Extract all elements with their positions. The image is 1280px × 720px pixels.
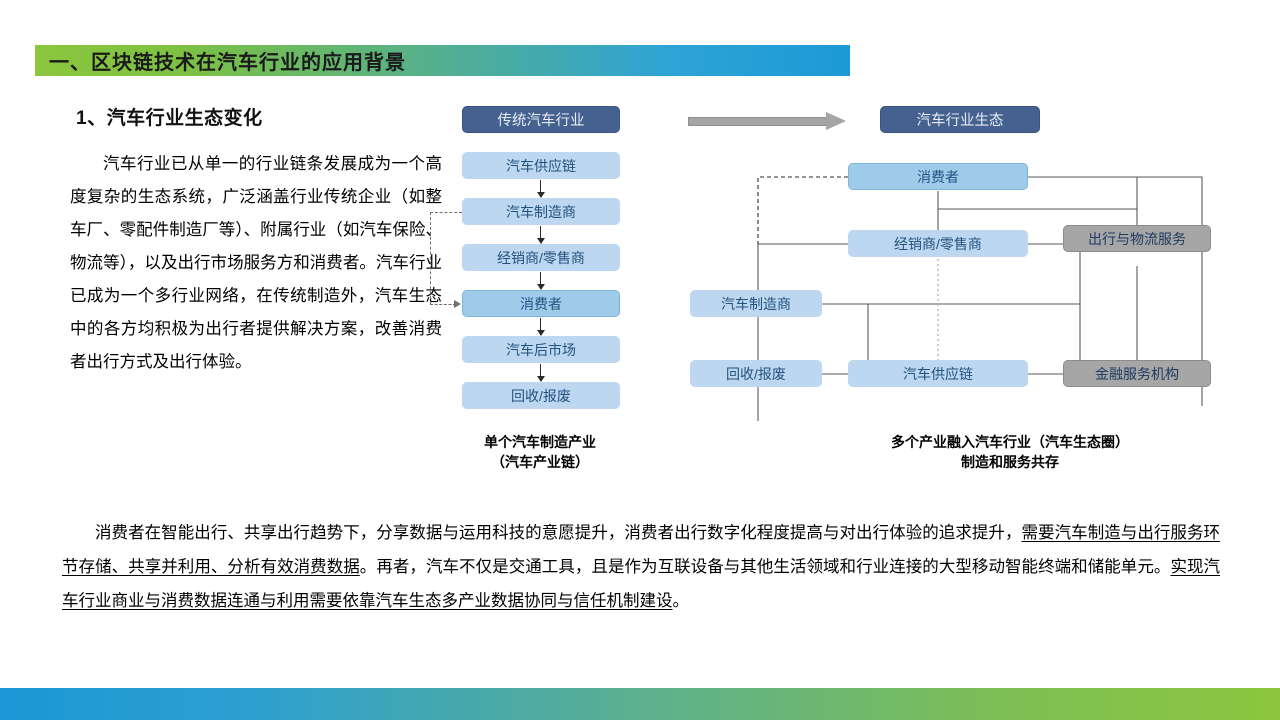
slide-footer-bar (0, 688, 1280, 720)
eco-node-consumer: 消费者 (848, 163, 1028, 190)
traditional-auto-flowchart: 传统汽车行业 汽车供应链 汽车制造商 经销商/零售商 消费者 汽车后市场 回收/… (452, 106, 632, 421)
page-title: 一、区块链技术在汽车行业的应用背景 (35, 46, 406, 75)
flow-node-dealer: 经销商/零售商 (462, 244, 620, 271)
flow-arrow-down-icon (540, 226, 541, 243)
flow-arrow-down-icon (540, 364, 541, 381)
feedback-arrowhead-icon (454, 300, 461, 308)
feedback-dashed-top (430, 212, 462, 213)
left-diagram-caption: 单个汽车制造产业 （汽车产业链） (440, 432, 640, 472)
caption-line-1: 多个产业融入汽车行业（汽车生态圈） (810, 432, 1210, 452)
flow-node-supply-chain: 汽车供应链 (462, 152, 620, 179)
flow-arrow-down-icon (540, 272, 541, 289)
section-sub-heading: 1、汽车行业生态变化 (76, 103, 263, 130)
flow-node-recycle: 回收/报废 (462, 382, 620, 409)
flow-arrow-down-icon (540, 180, 541, 197)
feedback-dashed-left (430, 212, 431, 304)
caption-line-2: （汽车产业链） (440, 452, 640, 472)
flow-node-aftermarket: 汽车后市场 (462, 336, 620, 363)
eco-node-financial-services: 金融服务机构 (1063, 360, 1211, 387)
eco-header-node: 汽车行业生态 (880, 106, 1040, 133)
auto-ecosystem-diagram: 汽车行业生态 消费者 经销商/零售商 出行与物流服务 汽车制造商 回收/报废 汽… (690, 106, 1230, 421)
caption-line-2: 制造和服务共存 (810, 452, 1210, 472)
para-seg-3: 。再者，汽车不仅是交通工具，且是作为互联设备与其他生活领域和行业连接的大型移动智… (360, 558, 1171, 576)
flow-header-node: 传统汽车行业 (462, 106, 620, 133)
eco-node-recycle: 回收/报废 (690, 360, 822, 387)
eco-node-supply-chain: 汽车供应链 (848, 360, 1028, 387)
para-seg-5: 。 (673, 592, 690, 610)
feedback-dashed-bottom (430, 304, 456, 305)
para-seg-1: 消费者在智能出行、共享出行趋势下，分享数据与运用科技的意愿提升，消费者出行数字化… (95, 524, 1022, 542)
bottom-paragraph: 消费者在智能出行、共享出行趋势下，分享数据与运用科技的意愿提升，消费者出行数字化… (62, 516, 1220, 618)
eco-node-manufacturer: 汽车制造商 (690, 290, 822, 317)
flow-arrow-down-icon (540, 318, 541, 335)
eco-node-mobility-logistics: 出行与物流服务 (1063, 225, 1211, 252)
flow-node-consumer: 消费者 (462, 290, 620, 317)
eco-node-dealer: 经销商/零售商 (848, 230, 1028, 257)
intro-paragraph: 汽车行业已从单一的行业链条发展成为一个高度复杂的生态系统，广泛涵盖行业传统企业（… (70, 148, 442, 379)
caption-line-1: 单个汽车制造产业 (440, 432, 640, 452)
slide-header-bar: 一、区块链技术在汽车行业的应用背景 (35, 45, 850, 76)
right-diagram-caption: 多个产业融入汽车行业（汽车生态圈） 制造和服务共存 (810, 432, 1210, 472)
flow-node-manufacturer: 汽车制造商 (462, 198, 620, 225)
